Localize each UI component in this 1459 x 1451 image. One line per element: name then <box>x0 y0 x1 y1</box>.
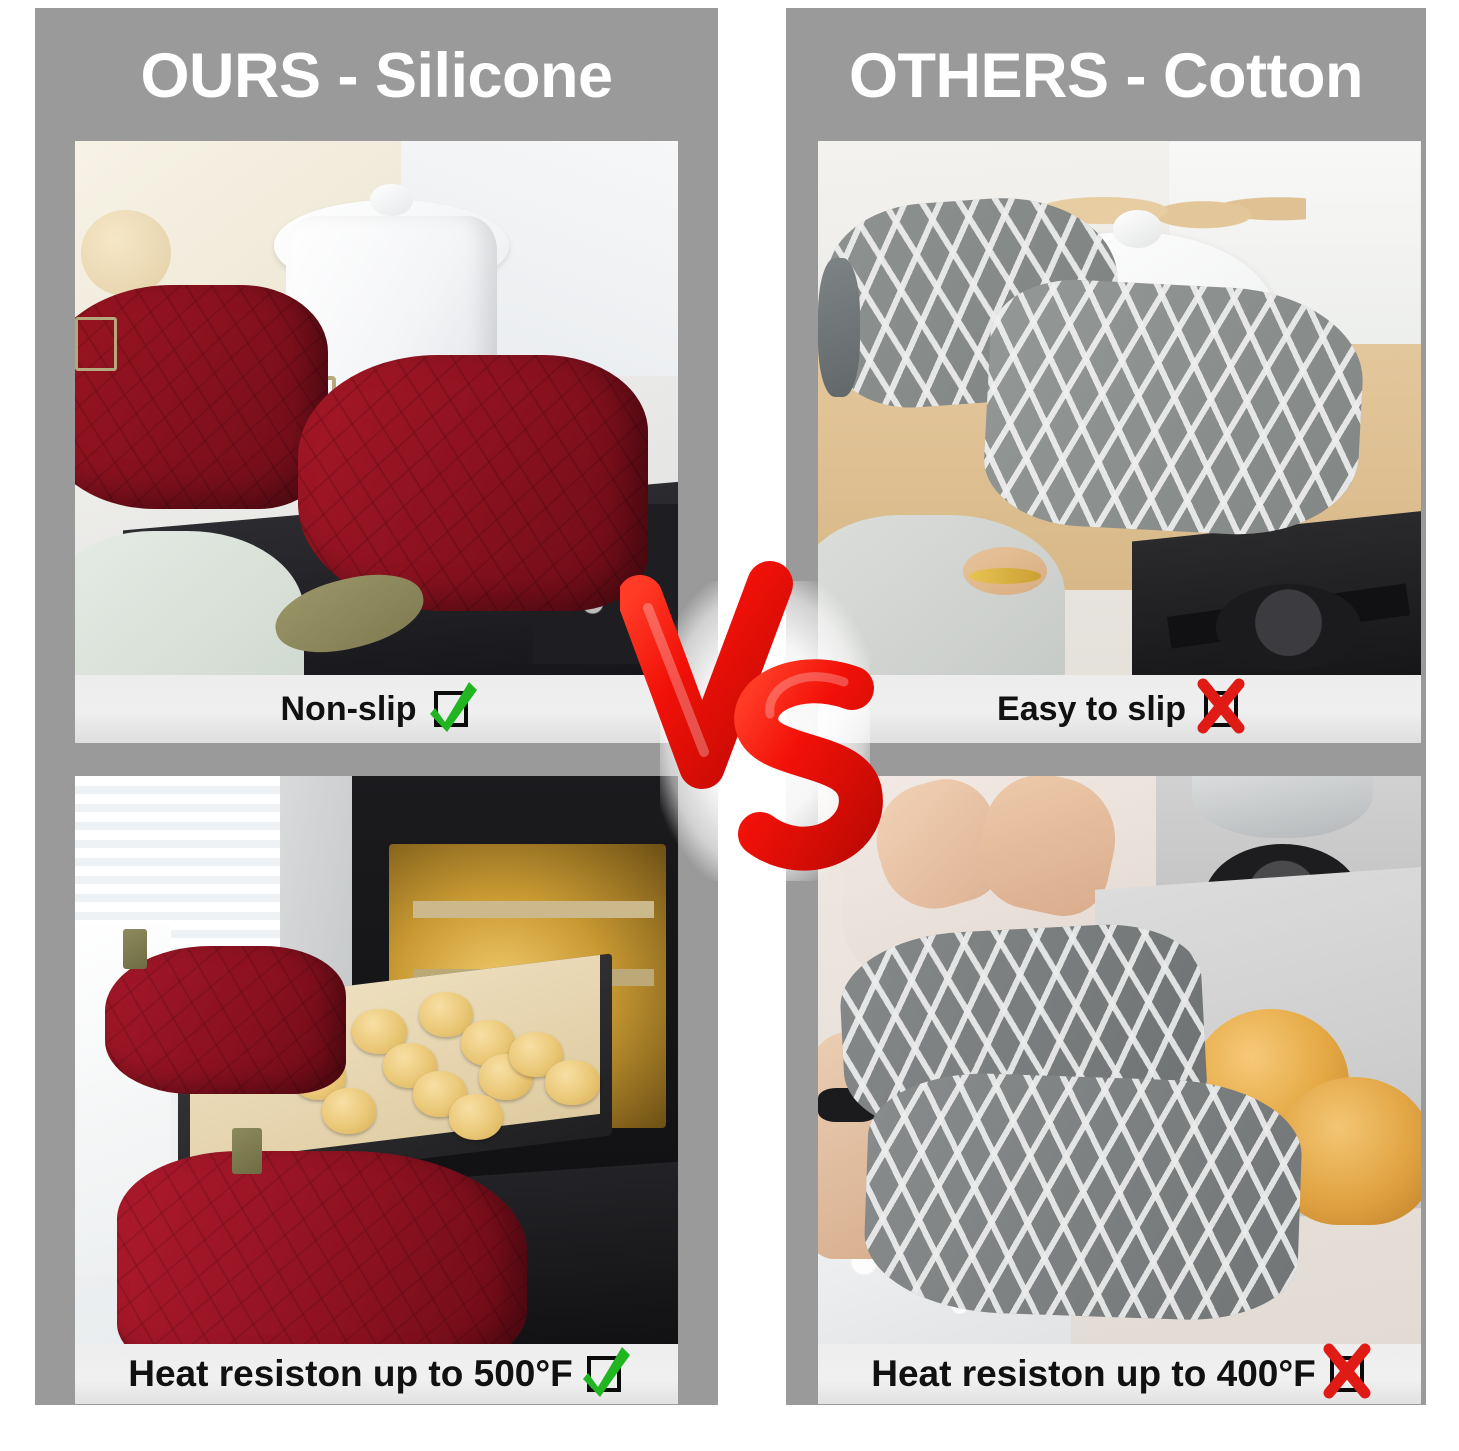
column-title-ours: OURS - Silicone <box>35 30 718 122</box>
photo-ours-heat <box>75 776 678 1344</box>
caption-text: Easy to slip <box>997 690 1186 729</box>
caption-others-slip: Easy to slip <box>818 675 1421 743</box>
caption-text: Heat resiston up to 500°F <box>128 1353 573 1395</box>
caption-text: Non-slip <box>281 690 417 729</box>
card-ours-non-slip: Non-slip <box>75 141 678 743</box>
card-ours-heat: Heat resiston up to 500°F <box>75 776 678 1404</box>
check-icon <box>432 688 472 730</box>
caption-others-heat: Heat resiston up to 400°F <box>818 1344 1421 1404</box>
photo-others-slip <box>818 141 1421 675</box>
card-others-heat: Heat resiston up to 400°F <box>818 776 1421 1404</box>
photo-others-heat <box>818 776 1421 1344</box>
photo-ours-non-slip <box>75 141 678 675</box>
column-title-others: OTHERS - Cotton <box>786 30 1426 122</box>
comparison-infographic: OURS - Silicone <box>0 0 1459 1451</box>
caption-text: Heat resiston up to 400°F <box>871 1353 1316 1395</box>
card-others-slip: Easy to slip <box>818 141 1421 743</box>
caption-ours-heat: Heat resiston up to 500°F <box>75 1344 678 1404</box>
cross-icon <box>1202 688 1242 730</box>
column-ours: OURS - Silicone <box>35 8 718 1405</box>
column-others: OTHERS - Cotton <box>786 8 1426 1405</box>
caption-ours-non-slip: Non-slip <box>75 675 678 743</box>
cross-icon <box>1328 1353 1368 1395</box>
check-icon <box>585 1353 625 1395</box>
